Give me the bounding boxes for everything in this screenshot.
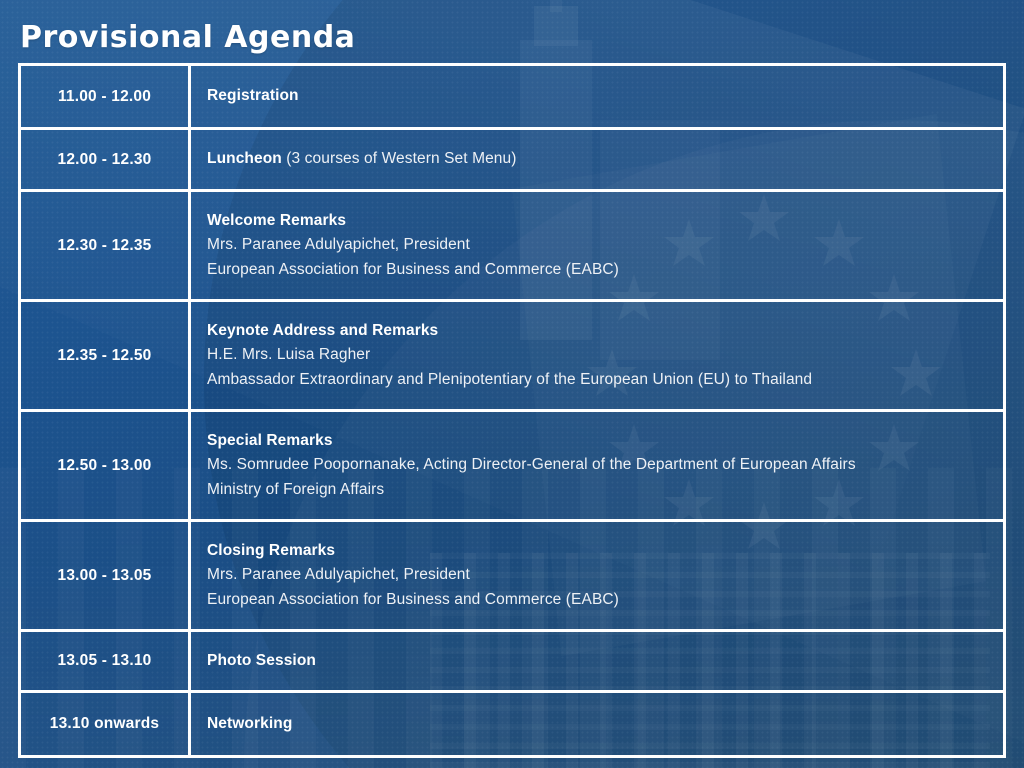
agenda-item-detail-line: Ambassador Extraordinary and Plenipotent…: [207, 368, 1003, 392]
agenda-item-detail-line: H.E. Mrs. Luisa Ragher: [207, 343, 1003, 367]
agenda-item-detail-line: Mrs. Paranee Adulyapichet, President: [207, 563, 1003, 587]
table-row: 13.10 onwards Networking: [21, 693, 1003, 755]
agenda-time-cell: 12.30 - 12.35: [21, 192, 191, 299]
agenda-item-title: Registration: [207, 87, 299, 104]
agenda-item-detail-line: Ministry of Foreign Affairs: [207, 478, 1003, 502]
table-row: 12.30 - 12.35 Welcome Remarks Mrs. Paran…: [21, 192, 1003, 302]
table-row: 12.50 - 13.00 Special Remarks Ms. Somrud…: [21, 412, 1003, 522]
agenda-time-cell: 12.00 - 12.30: [21, 130, 191, 189]
agenda-description-cell: Registration: [191, 66, 1003, 127]
agenda-time-cell: 12.35 - 12.50: [21, 302, 191, 409]
table-row: 13.05 - 13.10 Photo Session: [21, 632, 1003, 693]
agenda-item-suffix: (3 courses of Western Set Menu): [282, 150, 517, 167]
agenda-time-cell: 13.10 onwards: [21, 693, 191, 755]
agenda-description-cell: Welcome Remarks Mrs. Paranee Adulyapiche…: [191, 192, 1003, 299]
agenda-item-title: Welcome Remarks: [207, 209, 1003, 233]
table-row: 12.35 - 12.50 Keynote Address and Remark…: [21, 302, 1003, 412]
agenda-item-heading: Luncheon (3 courses of Western Set Menu): [207, 147, 1003, 171]
agenda-item-title: Networking: [207, 712, 1003, 736]
agenda-item-detail-line: European Association for Business and Co…: [207, 258, 1003, 282]
agenda-description-cell: Keynote Address and Remarks H.E. Mrs. Lu…: [191, 302, 1003, 409]
table-row: 13.00 - 13.05 Closing Remarks Mrs. Paran…: [21, 522, 1003, 632]
agenda-item-detail-line: Ms. Somrudee Poopornanake, Acting Direct…: [207, 453, 1003, 477]
agenda-description-cell: Closing Remarks Mrs. Paranee Adulyapiche…: [191, 522, 1003, 629]
table-row: 12.00 - 12.30 Luncheon (3 courses of Wes…: [21, 130, 1003, 192]
agenda-description-cell: Networking: [191, 693, 1003, 755]
agenda-item-title: Closing Remarks: [207, 539, 1003, 563]
agenda-item-title: Special Remarks: [207, 429, 1003, 453]
agenda-time-cell: 13.05 - 13.10: [21, 632, 191, 690]
page-title: Provisional Agenda: [20, 20, 355, 55]
slide-canvas: Provisional Agenda 11.00 - 12.00 Registr…: [0, 0, 1024, 768]
agenda-description-cell: Special Remarks Ms. Somrudee Poopornanak…: [191, 412, 1003, 519]
agenda-time-cell: 12.50 - 13.00: [21, 412, 191, 519]
table-row: 11.00 - 12.00 Registration: [21, 66, 1003, 130]
agenda-item-heading: Registration: [207, 84, 1003, 108]
agenda-item-title: Keynote Address and Remarks: [207, 319, 1003, 343]
agenda-time-cell: 13.00 - 13.05: [21, 522, 191, 629]
agenda-table: 11.00 - 12.00 Registration 12.00 - 12.30…: [18, 63, 1006, 758]
agenda-item-title: Luncheon: [207, 150, 282, 167]
agenda-item-title: Photo Session: [207, 649, 1003, 673]
agenda-description-cell: Luncheon (3 courses of Western Set Menu): [191, 130, 1003, 189]
agenda-description-cell: Photo Session: [191, 632, 1003, 690]
agenda-item-detail-line: European Association for Business and Co…: [207, 588, 1003, 612]
agenda-time-cell: 11.00 - 12.00: [21, 66, 191, 127]
agenda-item-detail-line: Mrs. Paranee Adulyapichet, President: [207, 233, 1003, 257]
